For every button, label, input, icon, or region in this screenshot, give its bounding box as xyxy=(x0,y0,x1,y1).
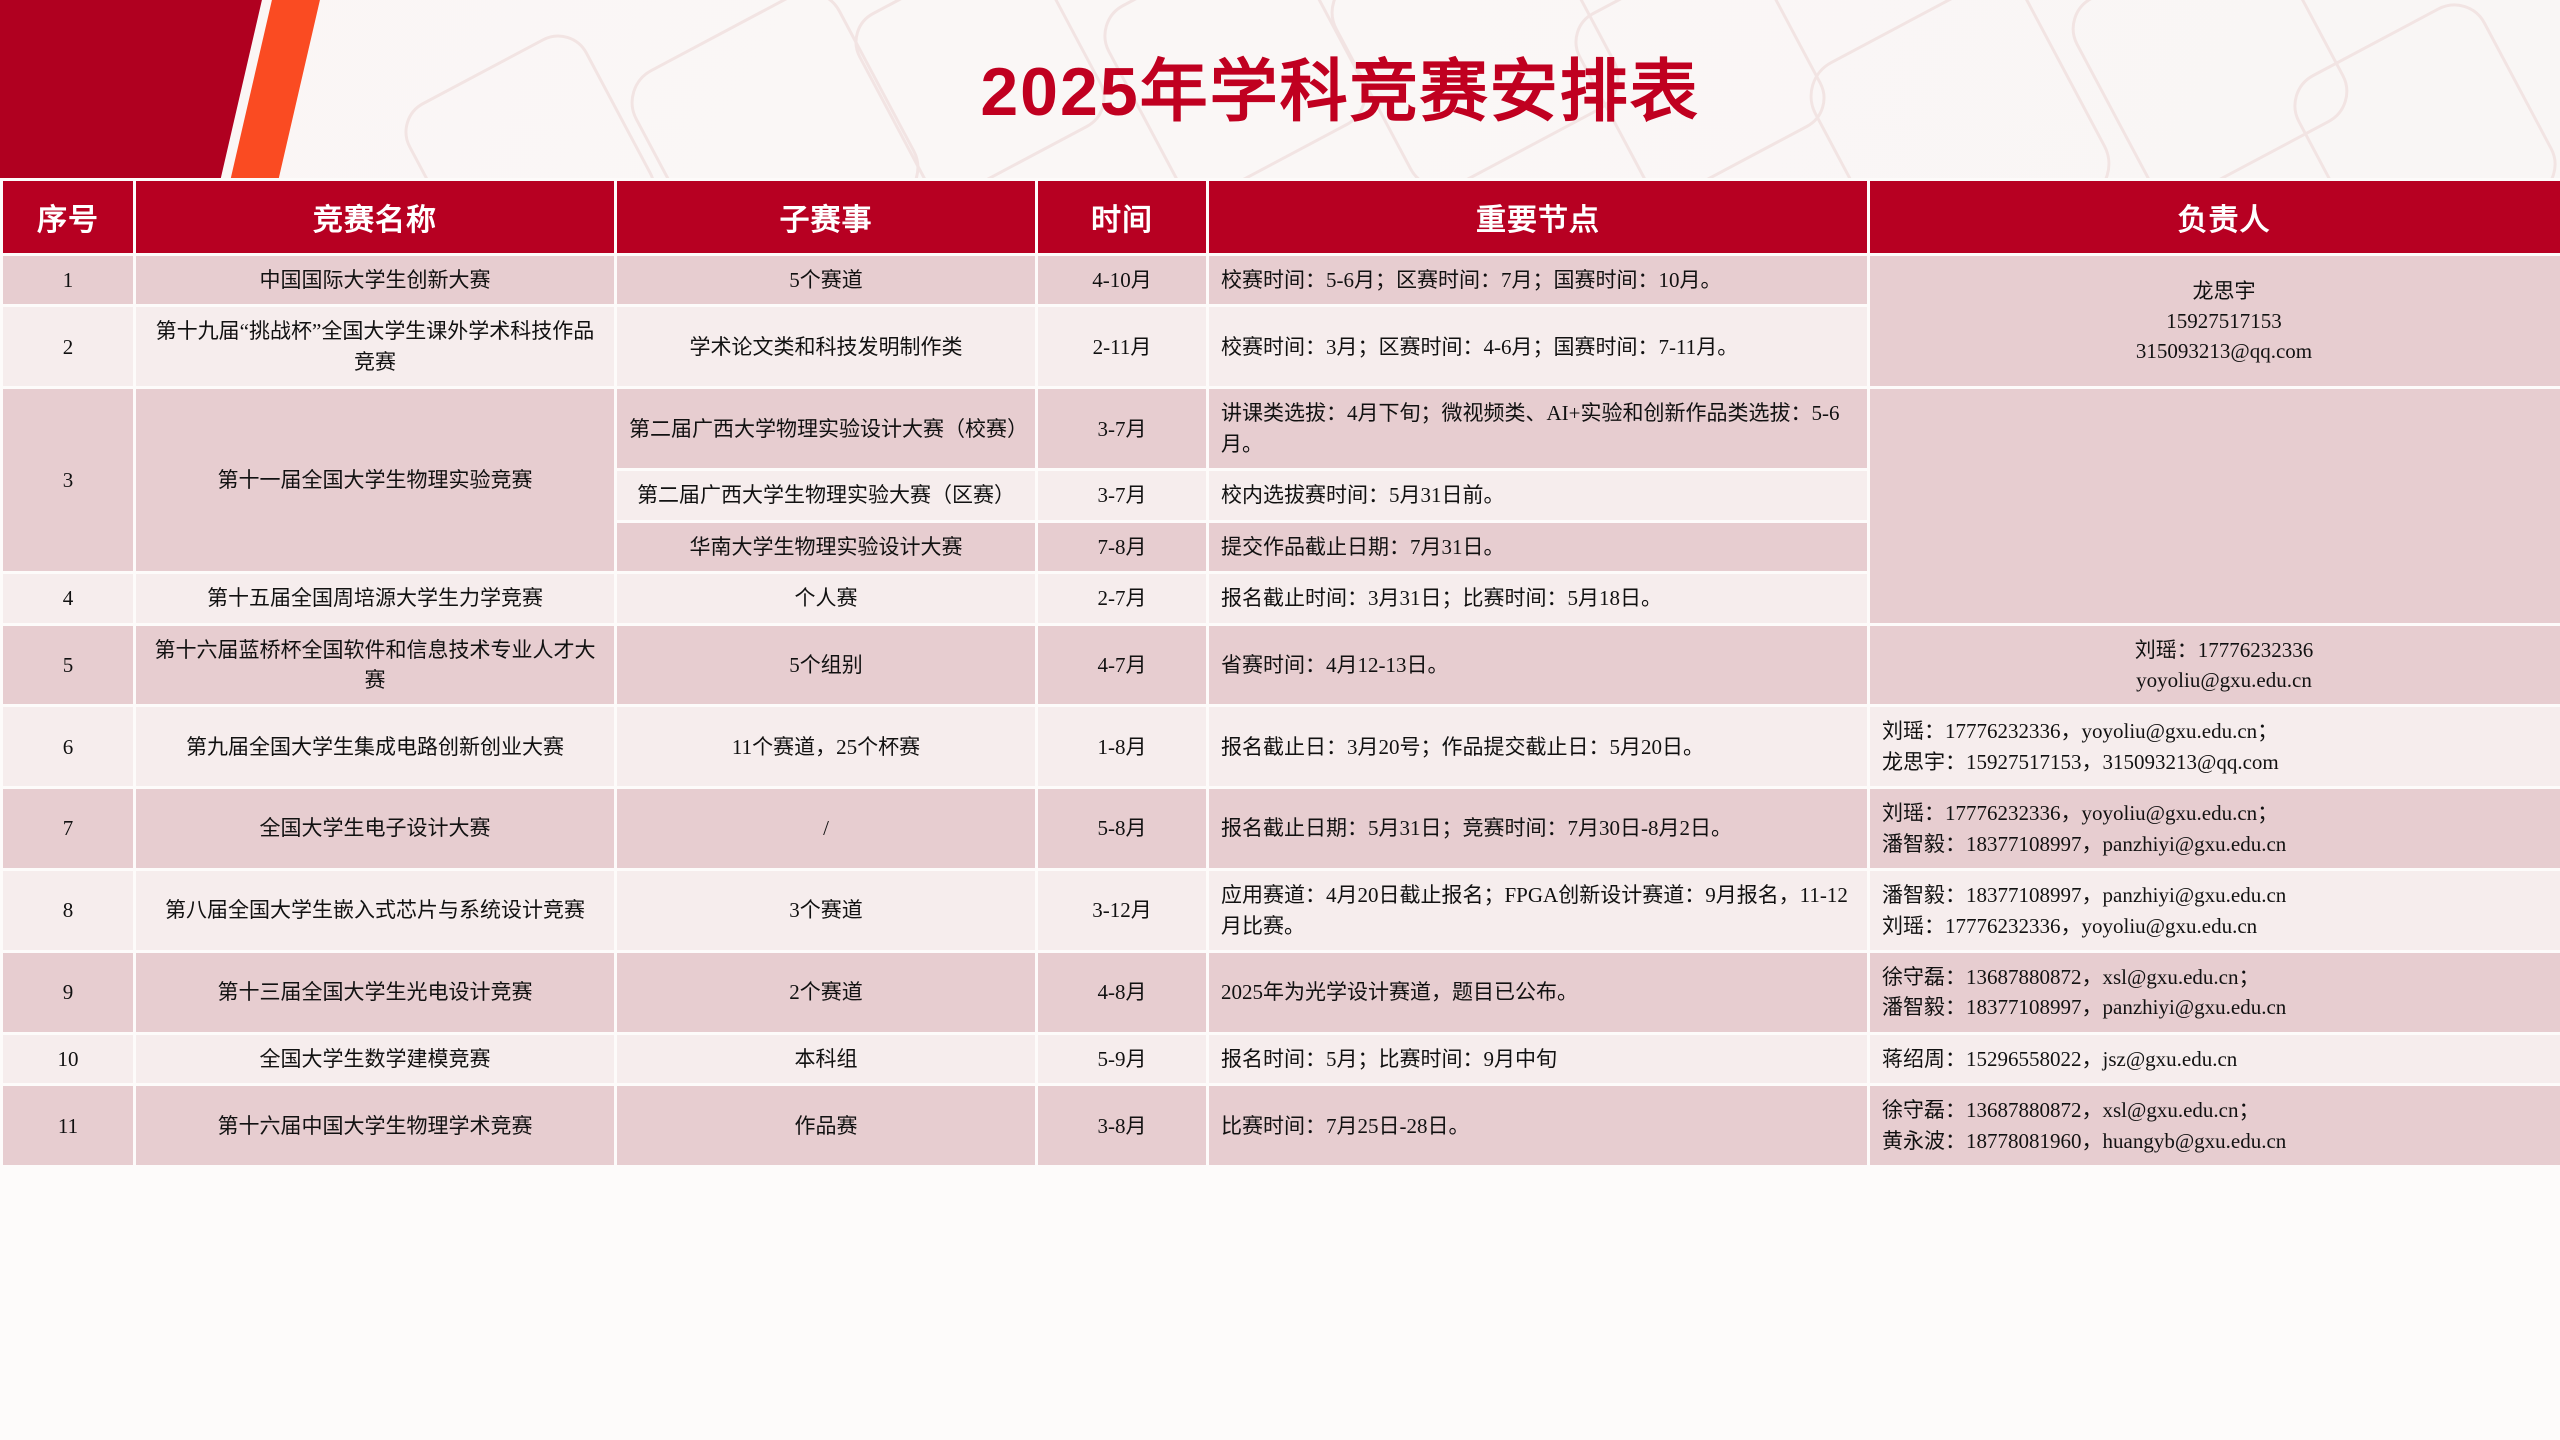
cell-subevent: 2个赛道 xyxy=(617,953,1035,1032)
cell-owner: 刘瑶：17776232336，yoyoliu@gxu.edu.cn；潘智毅：18… xyxy=(1870,789,2560,868)
cell-subevent: 本科组 xyxy=(617,1035,1035,1083)
cell-index: 5 xyxy=(3,626,133,705)
table-row: 3第十一届全国大学生物理实验竞赛第二届广西大学物理实验设计大赛（校赛）3-7月讲… xyxy=(3,389,2560,468)
cell-subevent: 第二届广西大学物理实验设计大赛（校赛） xyxy=(617,389,1035,468)
milestone-text: 报名截止日期：5月31日；竞赛时间：7月30日-8月2日。 xyxy=(1221,813,1855,843)
owner-contact-line: 刘瑶：17776232336 xyxy=(1882,635,2560,665)
cell-time: 5-8月 xyxy=(1038,789,1206,868)
cell-milestones: 讲课类选拔：4月下旬；微视频类、AI+实验和创新作品类选拔：5-6月。 xyxy=(1209,389,1867,468)
cell-time: 2-11月 xyxy=(1038,307,1206,386)
cell-time: 4-7月 xyxy=(1038,626,1206,705)
owner-contact-line: 徐守磊：13687880872，xsl@gxu.edu.cn； xyxy=(1882,962,2560,992)
cell-index: 1 xyxy=(3,256,133,304)
owner-contact-line: 15927517153 xyxy=(1882,306,2560,336)
cell-milestones: 校内选拔赛时间：5月31日前。 xyxy=(1209,471,1867,519)
cell-index: 8 xyxy=(3,871,133,950)
cell-milestones: 报名截止日期：5月31日；竞赛时间：7月30日-8月2日。 xyxy=(1209,789,1867,868)
cell-subevent: 5个赛道 xyxy=(617,256,1035,304)
cell-milestones: 校赛时间：5-6月；区赛时间：7月；国赛时间：10月。 xyxy=(1209,256,1867,304)
owner-contact-line: 黄永波：18778081960，huangyb@gxu.edu.cn xyxy=(1882,1126,2560,1156)
owner-contact-line: 蒋绍周：15296558022，jsz@gxu.edu.cn xyxy=(1882,1044,2560,1074)
table-header-row: 序号 竞赛名称 子赛事 时间 重要节点 负责人 xyxy=(3,181,2560,253)
owner-contact-line: 徐守磊：13687880872，xsl@gxu.edu.cn； xyxy=(1882,1095,2560,1125)
cell-index: 11 xyxy=(3,1086,133,1165)
cell-subevent: 第二届广西大学生物理实验大赛（区赛） xyxy=(617,471,1035,519)
table-row: 1中国国际大学生创新大赛5个赛道4-10月校赛时间：5-6月；区赛时间：7月；国… xyxy=(3,256,2560,304)
table-row: 8第八届全国大学生嵌入式芯片与系统设计竞赛3个赛道3-12月应用赛道：4月20日… xyxy=(3,871,2560,950)
table-row: 6第九届全国大学生集成电路创新创业大赛11个赛道，25个杯赛1-8月报名截止日：… xyxy=(3,707,2560,786)
owner-contact-line: 潘智毅：18377108997，panzhiyi@gxu.edu.cn xyxy=(1882,880,2560,910)
cell-competition-name: 全国大学生数学建模竞赛 xyxy=(136,1035,614,1083)
column-header-time: 时间 xyxy=(1038,181,1206,253)
cell-subevent: / xyxy=(617,789,1035,868)
cell-owner: 潘智毅：18377108997，panzhiyi@gxu.edu.cn刘瑶：17… xyxy=(1870,871,2560,950)
cell-competition-name: 第十六届中国大学生物理学术竞赛 xyxy=(136,1086,614,1165)
milestone-text: 校赛时间：5-6月；区赛时间：7月；国赛时间：10月。 xyxy=(1221,265,1855,295)
cell-subevent: 作品赛 xyxy=(617,1086,1035,1165)
cell-competition-name: 第十九届“挑战杯”全国大学生课外学术科技作品竞赛 xyxy=(136,307,614,386)
cell-competition-name: 第十五届全国周培源大学生力学竞赛 xyxy=(136,574,614,622)
milestone-text: 省赛时间：4月12-13日。 xyxy=(1221,650,1855,680)
owner-contact-line: yoyoliu@gxu.edu.cn xyxy=(1882,665,2560,695)
owner-contact-line: 315093213@qq.com xyxy=(1882,336,2560,366)
cell-time: 3-8月 xyxy=(1038,1086,1206,1165)
cell-subevent: 11个赛道，25个杯赛 xyxy=(617,707,1035,786)
column-header-name: 竞赛名称 xyxy=(136,181,614,253)
cell-competition-name: 全国大学生电子设计大赛 xyxy=(136,789,614,868)
column-header-owner: 负责人 xyxy=(1870,181,2560,253)
column-header-subevent: 子赛事 xyxy=(617,181,1035,253)
owner-contact-line: 潘智毅：18377108997，panzhiyi@gxu.edu.cn xyxy=(1882,829,2560,859)
milestone-text: 讲课类选拔：4月下旬；微视频类、AI+实验和创新作品类选拔：5-6月。 xyxy=(1221,398,1855,459)
milestone-text: 报名截止时间：3月31日；比赛时间：5月18日。 xyxy=(1221,583,1855,613)
cell-time: 2-7月 xyxy=(1038,574,1206,622)
owner-contact-line: 刘瑶：17776232336，yoyoliu@gxu.edu.cn xyxy=(1882,911,2560,941)
table-body: 1中国国际大学生创新大赛5个赛道4-10月校赛时间：5-6月；区赛时间：7月；国… xyxy=(3,256,2560,1165)
cell-milestones: 报名截止时间：3月31日；比赛时间：5月18日。 xyxy=(1209,574,1867,622)
table-row: 9第十三届全国大学生光电设计竞赛2个赛道4-8月2025年为光学设计赛道，题目已… xyxy=(3,953,2560,1032)
cell-competition-name: 第十六届蓝桥杯全国软件和信息技术专业人才大赛 xyxy=(136,626,614,705)
cell-milestones: 校赛时间：3月；区赛时间：4-6月；国赛时间：7-11月。 xyxy=(1209,307,1867,386)
owner-contact-line: 龙思宇：15927517153，315093213@qq.com xyxy=(1882,747,2560,777)
cell-index: 9 xyxy=(3,953,133,1032)
cell-time: 4-10月 xyxy=(1038,256,1206,304)
cell-time: 3-12月 xyxy=(1038,871,1206,950)
cell-subevent: 3个赛道 xyxy=(617,871,1035,950)
cell-time: 7-8月 xyxy=(1038,523,1206,571)
cell-milestones: 省赛时间：4月12-13日。 xyxy=(1209,626,1867,705)
owner-contact-line: 龙思宇 xyxy=(1882,276,2560,306)
cell-owner: 徐守磊：13687880872，xsl@gxu.edu.cn；黄永波：18778… xyxy=(1870,1086,2560,1165)
cell-milestones: 报名时间：5月；比赛时间：9月中旬 xyxy=(1209,1035,1867,1083)
owner-contact-line: 刘瑶：17776232336，yoyoliu@gxu.edu.cn； xyxy=(1882,798,2560,828)
cell-owner: 刘瑶：17776232336，yoyoliu@gxu.edu.cn；龙思宇：15… xyxy=(1870,707,2560,786)
table-row: 11第十六届中国大学生物理学术竞赛作品赛3-8月比赛时间：7月25日-28日。徐… xyxy=(3,1086,2560,1165)
table-row: 5第十六届蓝桥杯全国软件和信息技术专业人才大赛5个组别4-7月省赛时间：4月12… xyxy=(3,626,2560,705)
milestone-text: 报名时间：5月；比赛时间：9月中旬 xyxy=(1221,1044,1855,1074)
owner-contact-line: 潘智毅：18377108997，panzhiyi@gxu.edu.cn xyxy=(1882,992,2560,1022)
milestone-text: 校赛时间：3月；区赛时间：4-6月；国赛时间：7-11月。 xyxy=(1221,332,1855,362)
cell-competition-name: 中国国际大学生创新大赛 xyxy=(136,256,614,304)
cell-index: 4 xyxy=(3,574,133,622)
table-row: 7全国大学生电子设计大赛/5-8月报名截止日期：5月31日；竞赛时间：7月30日… xyxy=(3,789,2560,868)
cell-milestones: 应用赛道：4月20日截止报名；FPGA创新设计赛道：9月报名，11-12月比赛。 xyxy=(1209,871,1867,950)
milestone-text: 比赛时间：7月25日-28日。 xyxy=(1221,1111,1855,1141)
cell-time: 3-7月 xyxy=(1038,389,1206,468)
cell-index: 10 xyxy=(3,1035,133,1083)
cell-index: 7 xyxy=(3,789,133,868)
cell-time: 1-8月 xyxy=(1038,707,1206,786)
page-title: 2025年学科竞赛安排表 xyxy=(0,36,2560,135)
cell-competition-name: 第八届全国大学生嵌入式芯片与系统设计竞赛 xyxy=(136,871,614,950)
cell-index: 3 xyxy=(3,389,133,571)
owner-contact-line: 刘瑶：17776232336，yoyoliu@gxu.edu.cn； xyxy=(1882,716,2560,746)
cell-competition-name: 第十一届全国大学生物理实验竞赛 xyxy=(136,389,614,571)
cell-index: 6 xyxy=(3,707,133,786)
cell-milestones: 2025年为光学设计赛道，题目已公布。 xyxy=(1209,953,1867,1032)
cell-subevent: 华南大学生物理实验设计大赛 xyxy=(617,523,1035,571)
column-header-index: 序号 xyxy=(3,181,133,253)
cell-milestones: 提交作品截止日期：7月31日。 xyxy=(1209,523,1867,571)
cell-index: 2 xyxy=(3,307,133,386)
milestone-text: 报名截止日：3月20号；作品提交截止日：5月20日。 xyxy=(1221,732,1855,762)
cell-owner xyxy=(1870,389,2560,622)
column-header-milestones: 重要节点 xyxy=(1209,181,1867,253)
cell-owner: 蒋绍周：15296558022，jsz@gxu.edu.cn xyxy=(1870,1035,2560,1083)
cell-subevent: 个人赛 xyxy=(617,574,1035,622)
cell-competition-name: 第十三届全国大学生光电设计竞赛 xyxy=(136,953,614,1032)
cell-subevent: 学术论文类和科技发明制作类 xyxy=(617,307,1035,386)
milestone-text: 2025年为光学设计赛道，题目已公布。 xyxy=(1221,977,1855,1007)
cell-time: 4-8月 xyxy=(1038,953,1206,1032)
table-row: 10全国大学生数学建模竞赛本科组5-9月报名时间：5月；比赛时间：9月中旬蒋绍周… xyxy=(3,1035,2560,1083)
cell-milestones: 报名截止日：3月20号；作品提交截止日：5月20日。 xyxy=(1209,707,1867,786)
cell-owner: 刘瑶：17776232336yoyoliu@gxu.edu.cn xyxy=(1870,626,2560,705)
cell-time: 3-7月 xyxy=(1038,471,1206,519)
cell-owner: 龙思宇15927517153315093213@qq.com xyxy=(1870,256,2560,386)
milestone-text: 提交作品截止日期：7月31日。 xyxy=(1221,532,1855,562)
cell-time: 5-9月 xyxy=(1038,1035,1206,1083)
milestone-text: 校内选拔赛时间：5月31日前。 xyxy=(1221,480,1855,510)
cell-subevent: 5个组别 xyxy=(617,626,1035,705)
cell-milestones: 比赛时间：7月25日-28日。 xyxy=(1209,1086,1867,1165)
cell-competition-name: 第九届全国大学生集成电路创新创业大赛 xyxy=(136,707,614,786)
milestone-text: 应用赛道：4月20日截止报名；FPGA创新设计赛道：9月报名，11-12月比赛。 xyxy=(1221,880,1855,941)
cell-owner: 徐守磊：13687880872，xsl@gxu.edu.cn；潘智毅：18377… xyxy=(1870,953,2560,1032)
competition-schedule-table: 序号 竞赛名称 子赛事 时间 重要节点 负责人 1中国国际大学生创新大赛5个赛道… xyxy=(0,178,2560,1168)
